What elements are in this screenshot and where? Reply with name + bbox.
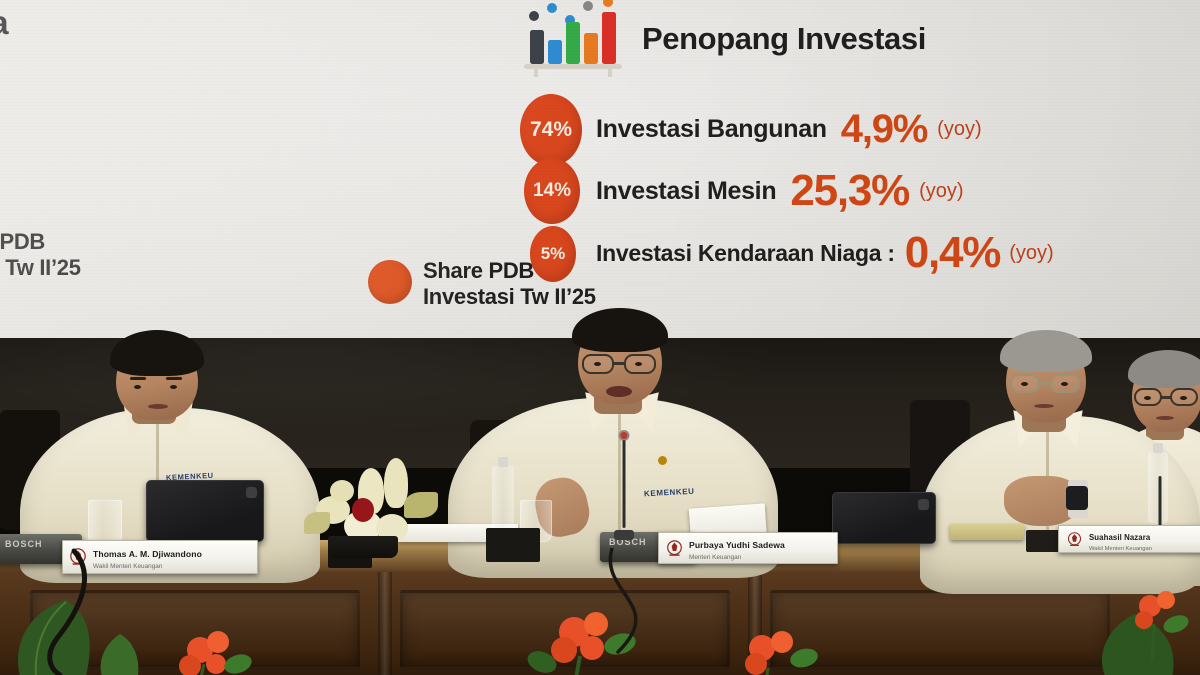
share-bubble-bangunan: 74% — [520, 94, 582, 166]
right-panel-title: Penopang Investasi — [642, 21, 926, 57]
eye-right — [170, 385, 177, 389]
middle-legend-line-2: Investasi Tw II’25 — [423, 284, 596, 309]
mouth-open-speaking — [606, 386, 632, 397]
investment-row: 14% Investasi Mesin 25,3% (yoy) — [520, 160, 1200, 222]
bottle-cap — [1153, 443, 1163, 453]
desk-box-center — [486, 528, 540, 562]
slide-right-panel: Penopang Investasi 74% Investasi Banguna… — [520, 0, 1200, 284]
investment-rows: 74% Investasi Bangunan 4,9% (yoy) 14% In… — [520, 98, 1200, 284]
water-glass-left — [88, 500, 122, 544]
eye-right — [1061, 382, 1068, 386]
glasses-bridge — [1040, 382, 1050, 385]
right-panel-header: Penopang Investasi — [520, 0, 1200, 78]
bloom — [330, 480, 354, 502]
left-legend-label: Share PDB Kon si Tw II’25 — [0, 229, 81, 280]
left-legend-row: y) Share PDB Kon si Tw II’25 — [0, 229, 320, 280]
garuda-crest-icon — [1065, 529, 1083, 549]
eyebrow-left — [130, 377, 146, 380]
eye-left — [1021, 382, 1028, 386]
cable-center — [600, 548, 860, 668]
investment-row: 74% Investasi Bangunan 4,9% (yoy) — [520, 98, 1200, 160]
share-pdb-investasi-dot-icon — [368, 260, 412, 304]
lapel-pin — [658, 456, 667, 465]
tablet-left — [146, 480, 264, 542]
investment-value-bangunan: 4,9% — [841, 107, 927, 152]
hair — [1000, 330, 1092, 372]
investment-label-bangunan: Investasi Bangunan — [596, 115, 827, 144]
hair — [110, 330, 204, 376]
nameplate-suahasil: Suahasil Nazara Wakil Menteri Keuangan — [1058, 525, 1200, 553]
mouth — [148, 404, 168, 409]
nameplate-role: Wakil Menteri Keuangan — [1089, 546, 1152, 552]
investment-value-mesin: 25,3% — [790, 166, 909, 216]
tablet-camera-icon — [918, 499, 929, 510]
investment-unit-bangunan: (yoy) — [937, 118, 981, 141]
left-legend-line-1: Share PDB — [0, 229, 45, 254]
investment-label-kendaraan: Investasi Kendaraan Niaga : — [596, 240, 895, 267]
investment-unit-mesin: (yoy) — [919, 180, 963, 203]
tablet-right — [832, 492, 936, 544]
microphone-stem — [623, 440, 626, 528]
foliage — [304, 512, 330, 534]
investment-row: 5% Investasi Kendaraan Niaga : 0,4% (yoy… — [520, 222, 1200, 284]
flower-arrangement-center-left — [300, 452, 470, 552]
bar-chart-icon — [520, 0, 628, 78]
tablet-camera-icon — [246, 487, 257, 498]
investment-unit-kendaraan: (yoy) — [1009, 242, 1053, 265]
nameplate-name: Suahasil Nazara — [1089, 533, 1150, 542]
eye-right — [635, 362, 642, 366]
share-bubble-mesin: 14% — [524, 158, 580, 224]
bloom-red-rose — [352, 498, 374, 522]
glasses-bridge — [614, 362, 624, 365]
press-conference-photo: ah Tangga 2% (yoy) 5% (yoy) y) Share PDB… — [0, 0, 1200, 675]
left-legend-line-2: Kon si Tw II’25 — [0, 255, 81, 280]
mouth — [1034, 404, 1054, 408]
hair — [572, 308, 668, 352]
eye-left — [594, 362, 601, 366]
eyebrow-right — [166, 377, 182, 380]
investment-value-kendaraan: 0,4% — [905, 228, 1001, 278]
left-panel-heading: ah Tangga — [0, 4, 320, 42]
presentation-slide: ah Tangga 2% (yoy) 5% (yoy) y) Share PDB… — [0, 0, 1200, 340]
bottle-cap — [498, 457, 508, 467]
left-stat-row-1: 2% (yoy) — [0, 88, 320, 145]
nameplate-text: Suahasil Nazara Wakil Menteri Keuangan — [1089, 527, 1152, 552]
investment-label-mesin: Investasi Mesin — [596, 177, 776, 206]
middle-legend-line-1: Share PDB — [423, 258, 534, 283]
microphone-base — [614, 530, 634, 540]
notepad-right — [950, 524, 1024, 540]
left-stat-row-2: 5% (yoy) — [0, 151, 320, 208]
cable-left — [0, 545, 400, 675]
flower-cluster-upper-right — [1126, 590, 1200, 660]
share-bubble-kendaraan: 5% — [530, 226, 576, 282]
eye-left — [134, 385, 141, 389]
microphone-center — [614, 430, 634, 540]
slide-left-panel: ah Tangga 2% (yoy) 5% (yoy) y) Share PDB… — [0, 4, 320, 280]
wristwatch — [1066, 486, 1088, 510]
foliage — [404, 492, 438, 518]
